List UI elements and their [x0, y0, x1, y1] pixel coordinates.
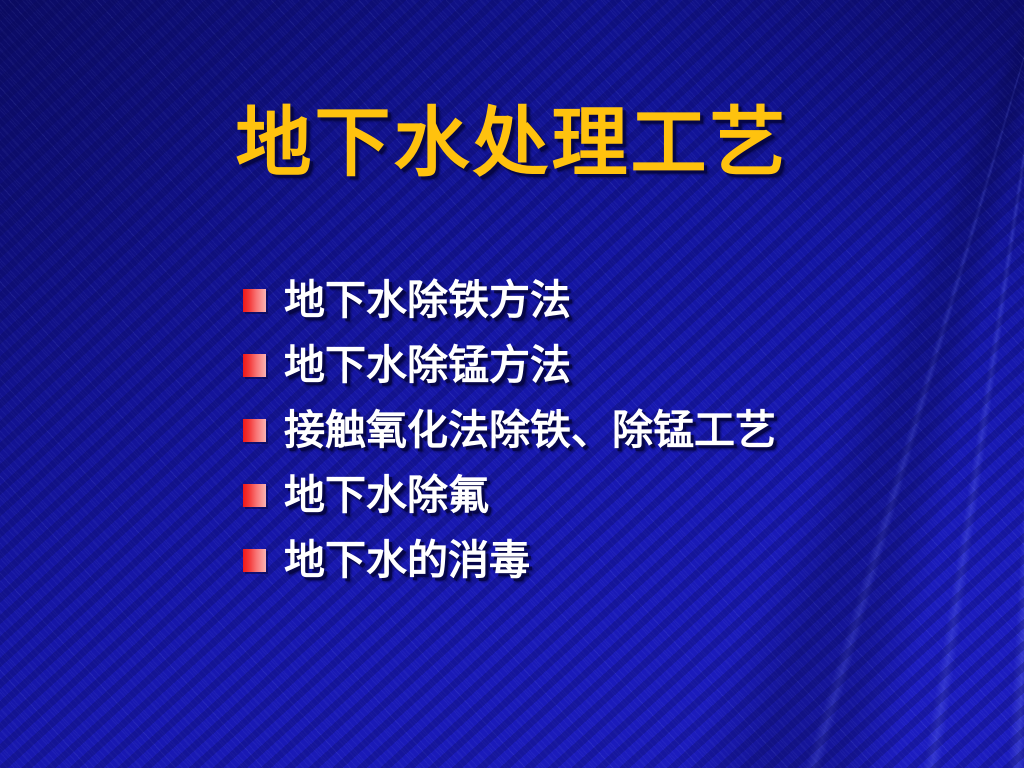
list-item-label: 地下水除氟 — [284, 475, 489, 516]
bullet-list: 地下水除铁方法 地下水除锰方法 接触氧化法除铁、除锰工艺 地下水除氟 地下水的消… — [243, 268, 776, 593]
square-bullet-icon — [243, 354, 266, 377]
list-item[interactable]: 地下水除铁方法 — [243, 268, 776, 333]
list-item[interactable]: 地下水除氟 — [243, 463, 776, 528]
list-item-label: 地下水除铁方法 — [284, 280, 571, 321]
list-item-label: 接触氧化法除铁、除锰工艺 — [284, 410, 776, 451]
list-item[interactable]: 接触氧化法除铁、除锰工艺 — [243, 398, 776, 463]
list-item[interactable]: 地下水除锰方法 — [243, 333, 776, 398]
square-bullet-icon — [243, 484, 266, 507]
list-item-label: 地下水的消毒 — [284, 540, 530, 581]
presentation-slide: 地下水处理工艺 地下水除铁方法 地下水除锰方法 接触氧化法除铁、除锰工艺 地下水… — [0, 0, 1024, 768]
square-bullet-icon — [243, 289, 266, 312]
list-item[interactable]: 地下水的消毒 — [243, 528, 776, 593]
square-bullet-icon — [243, 549, 266, 572]
list-item-label: 地下水除锰方法 — [284, 345, 571, 386]
slide-content: 地下水处理工艺 地下水除铁方法 地下水除锰方法 接触氧化法除铁、除锰工艺 地下水… — [0, 0, 1024, 768]
slide-title: 地下水处理工艺 — [0, 103, 1024, 183]
square-bullet-icon — [243, 419, 266, 442]
